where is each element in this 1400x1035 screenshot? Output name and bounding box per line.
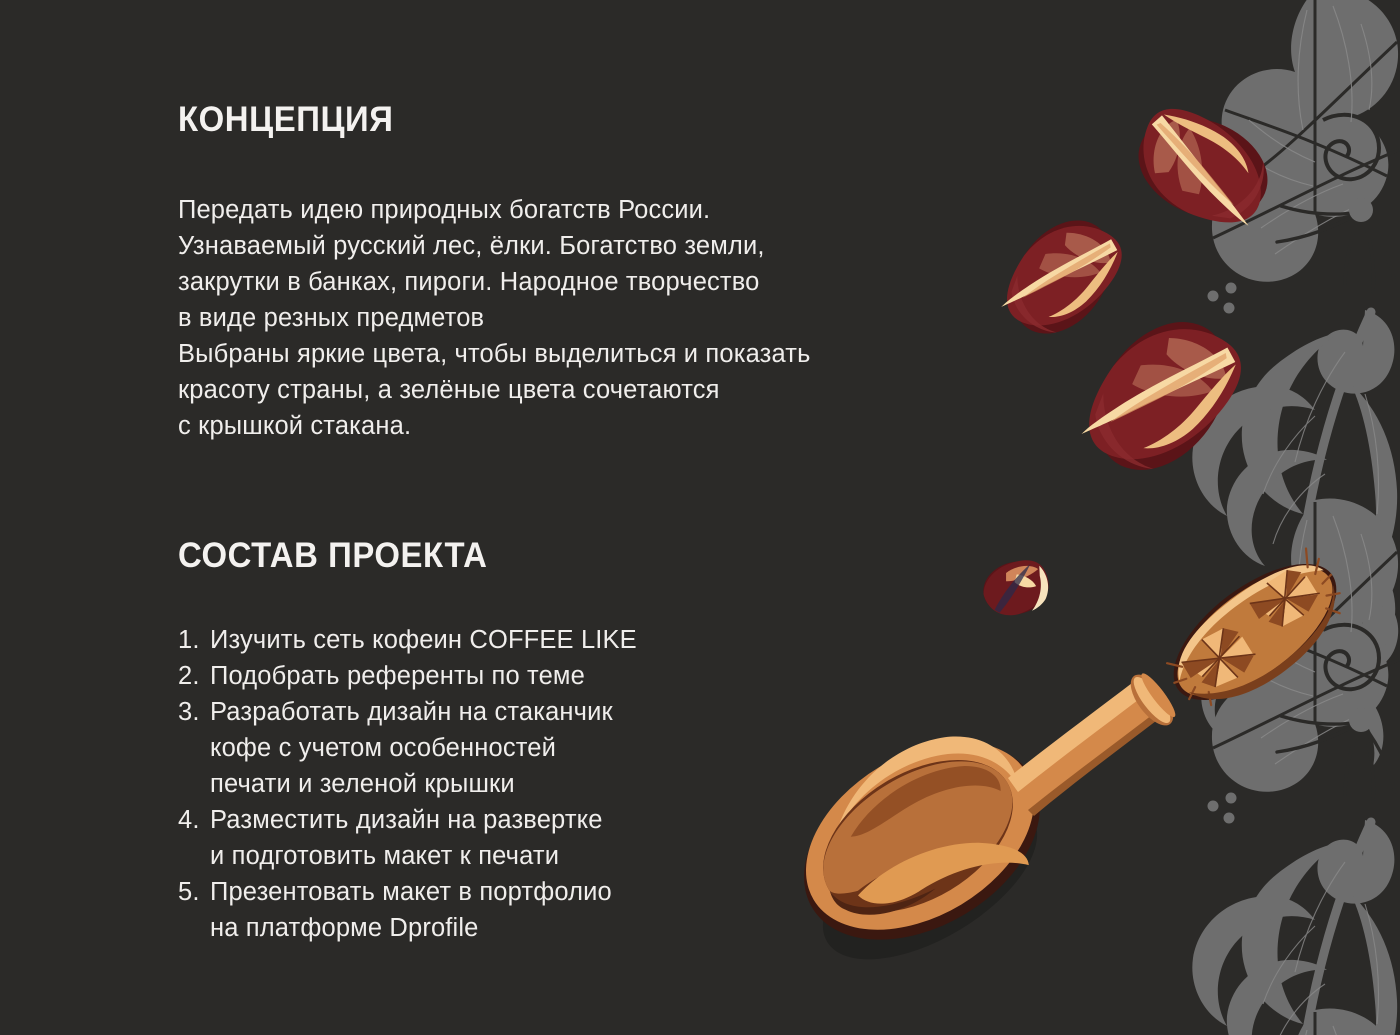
list-item-text: Изучить сеть кофеин COFFEE LIKE bbox=[210, 622, 878, 658]
list-item-text: Презентовать макет в портфолио на платфо… bbox=[210, 874, 878, 946]
list-item-line: Подобрать референты по теме bbox=[210, 658, 878, 694]
coffee-bean-top bbox=[1123, 99, 1282, 236]
concept-heading: КОНЦЕПЦИЯ bbox=[178, 102, 393, 137]
list-item-text: Подобрать референты по теме bbox=[210, 658, 878, 694]
list-item-line: кофе с учетом особенностей bbox=[210, 730, 878, 766]
list-item-line: Изучить сеть кофеин COFFEE LIKE bbox=[210, 622, 878, 658]
list-item-number: 1. bbox=[178, 622, 208, 658]
list-item-line: и подготовить макет к печати bbox=[210, 838, 878, 874]
list-item-line: на платформе Dprofile bbox=[210, 910, 878, 946]
list-item-line: Разместить дизайн на развертке bbox=[210, 802, 878, 838]
concept-line: закрутки в банках, пироги. Народное твор… bbox=[178, 264, 978, 300]
list-item-number: 5. bbox=[178, 874, 208, 910]
list-item: 2. Подобрать референты по теме bbox=[178, 658, 878, 694]
scope-list: 1. Изучить сеть кофеин COFFEE LIKE 2. По… bbox=[178, 622, 878, 946]
scope-heading: СОСТАВ ПРОЕКТА bbox=[178, 538, 487, 573]
concept-line: красоту страны, а зелёные цвета сочетают… bbox=[178, 372, 978, 408]
list-item-number: 4. bbox=[178, 802, 208, 838]
text-column: КОНЦЕПЦИЯ Передать идею природных богатс… bbox=[178, 0, 998, 1035]
list-item-number: 2. bbox=[178, 658, 208, 694]
concept-line: Передать идею природных богатств России. bbox=[178, 192, 978, 228]
coffee-bean-left bbox=[992, 202, 1133, 353]
list-item-text: Разместить дизайн на развертке и подгото… bbox=[210, 802, 878, 874]
khokhloma-floral-ornament bbox=[1165, 0, 1400, 1035]
list-item-line: Разработать дизайн на стаканчик bbox=[210, 694, 878, 730]
list-item-line: печати и зеленой крышки bbox=[210, 766, 878, 802]
slide-canvas: КОНЦЕПЦИЯ Передать идею природных богатс… bbox=[0, 0, 1400, 1035]
list-item-number: 3. bbox=[178, 694, 208, 730]
list-item: 1. Изучить сеть кофеин COFFEE LIKE bbox=[178, 622, 878, 658]
list-item: 5. Презентовать макет в портфолио на пла… bbox=[178, 874, 878, 946]
concept-line: в виде резных предметов bbox=[178, 300, 978, 336]
list-item-text: Разработать дизайн на стаканчик кофе с у… bbox=[210, 694, 878, 802]
list-item-line: Презентовать макет в портфолио bbox=[210, 874, 878, 910]
concept-paragraph: Передать идею природных богатств России.… bbox=[178, 192, 978, 444]
concept-line: Выбраны яркие цвета, чтобы выделиться и … bbox=[178, 336, 978, 372]
concept-line: с крышкой стакана. bbox=[178, 408, 978, 444]
coffee-bean-large bbox=[1069, 297, 1255, 495]
concept-line: Узнаваемый русский лес, ёлки. Богатство … bbox=[178, 228, 978, 264]
list-item: 3. Разработать дизайн на стаканчик кофе … bbox=[178, 694, 878, 802]
list-item: 4. Разместить дизайн на развертке и подг… bbox=[178, 802, 878, 874]
